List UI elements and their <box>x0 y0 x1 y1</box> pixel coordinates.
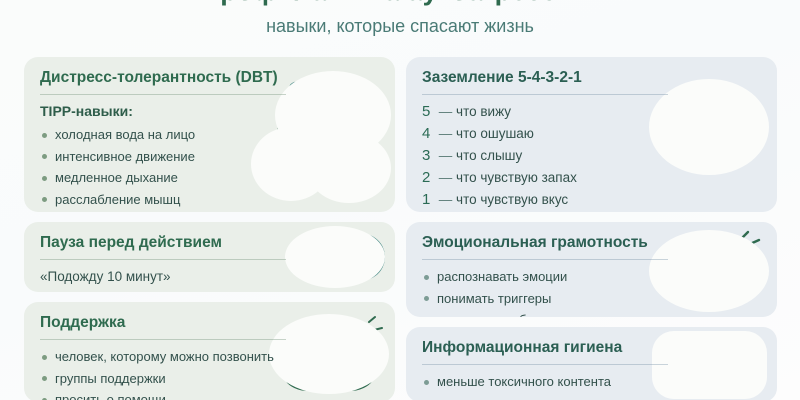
list-item: 4 — что ошушаю <box>422 123 763 145</box>
pause-quote: «Подожду 10 минут» <box>40 266 381 288</box>
information-hygiene-bullet-list: меньше токсичного контента <box>422 371 763 393</box>
list-item: разрешать себе чувствовать <box>422 309 763 317</box>
step-number: 1 <box>422 189 435 211</box>
list-item: человек, которому можно позвонить <box>40 346 381 368</box>
step-text: что слышу <box>456 148 522 163</box>
card-distress-tolerance: Дистресс-толерантность (DBT) TIPP-навыки… <box>24 57 395 212</box>
step-number: 4 <box>422 123 435 145</box>
step-dash: — <box>439 126 453 141</box>
list-item: просить о помощи <box>40 389 381 400</box>
step-dash: — <box>439 192 453 207</box>
card-pause-before-action: Пауза перед действием «Подожду 10 минут» <box>24 222 395 292</box>
step-text: что чувствую запах <box>456 170 577 185</box>
list-item: 5 — что вижу <box>422 101 763 123</box>
step-number: 3 <box>422 145 435 167</box>
step-dash: — <box>439 148 453 163</box>
step-text: что ошушаю <box>456 126 534 141</box>
list-item: интенсивное движение <box>40 146 381 168</box>
left-column: Дистресс-толерантность (DBT) TIPP-навыки… <box>24 57 395 400</box>
page-title: Профилактика аутоагрессии: <box>0 0 800 8</box>
tipp-bullet-list: холодная вода на лицо интенсивное движен… <box>40 124 381 210</box>
step-number: 5 <box>422 101 435 123</box>
list-item: 1 — что чувствую вкус <box>422 189 763 211</box>
card-support: Поддержка человек, которому можно позвон… <box>24 302 395 400</box>
list-item: группы поддержки <box>40 368 381 390</box>
right-column: Заземление 5-4-3-2-1 5 — что вижу 4 — чт… <box>406 57 777 400</box>
list-item: распознавать эмоции <box>422 266 763 288</box>
list-item: медленное дыхание <box>40 167 381 189</box>
header: Профилактика аутоагрессии: навыки, котор… <box>0 0 800 38</box>
step-number: 2 <box>422 167 435 189</box>
card-title: Информационная гигиена <box>422 338 763 365</box>
list-item: расслабление мышц <box>40 189 381 211</box>
step-text: что чувствую вкус <box>456 192 568 207</box>
step-dash: — <box>439 170 453 185</box>
infographic-page: Профилактика аутоагрессии: навыки, котор… <box>0 0 800 400</box>
grounding-step-list: 5 — что вижу 4 — что ошушаю 3 — что слыш… <box>422 101 763 211</box>
card-emotional-literacy: Эмоциональная грамотность распознавать э… <box>406 222 777 317</box>
step-dash: — <box>439 104 453 119</box>
card-title: Пауза перед действием <box>40 233 381 260</box>
card-information-hygiene: Информационная гигиена меньше токсичного… <box>406 327 777 400</box>
list-item: холодная вода на лицо <box>40 124 381 146</box>
card-title: Заземление 5-4-3-2-1 <box>422 68 763 95</box>
tipp-sub-label: TIPP-навыки: <box>40 101 381 121</box>
card-grounding-54321: Заземление 5-4-3-2-1 5 — что вижу 4 — чт… <box>406 57 777 212</box>
list-item: 2 — что чувствую запах <box>422 167 763 189</box>
card-title: Дистресс-толерантность (DBT) <box>40 68 381 95</box>
page-subtitle: навыки, которые спасают жизнь <box>0 14 800 38</box>
card-title: Эмоциональная грамотность <box>422 233 763 260</box>
card-title: Поддержка <box>40 313 381 340</box>
list-item: понимать триггеры <box>422 288 763 310</box>
support-bullet-list: человек, которому можно позвонить группы… <box>40 346 381 400</box>
list-item: 3 — что слышу <box>422 145 763 167</box>
step-text: что вижу <box>456 104 511 119</box>
list-item: меньше токсичного контента <box>422 371 763 393</box>
emotional-literacy-bullet-list: распознавать эмоции понимать триггеры ра… <box>422 266 763 317</box>
